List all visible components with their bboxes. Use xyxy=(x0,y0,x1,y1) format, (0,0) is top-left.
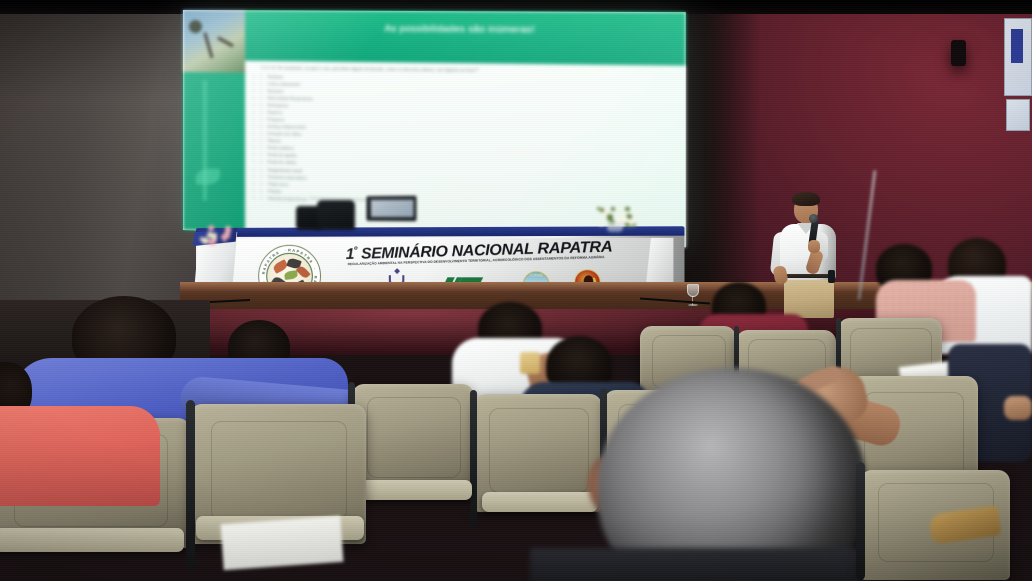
presenter-belt xyxy=(784,274,834,278)
flower-petal xyxy=(605,208,610,213)
slide-option-label: Perda de apetite xyxy=(267,152,296,158)
loudspeaker-icon xyxy=(951,40,966,66)
slide-left-band xyxy=(183,72,245,232)
slide-option-list: [ ] Nenhum[ ] Cólica abdominal[ ] Desmai… xyxy=(253,73,677,214)
slide-option-label: Fraqueza xyxy=(267,117,284,122)
slide-option-checkbox: [ ] xyxy=(253,88,267,93)
audience-salmon-body xyxy=(0,406,160,506)
armrest-a xyxy=(356,480,472,500)
notebook-left xyxy=(221,516,344,570)
conab-label: CONAB xyxy=(524,273,548,277)
slide-option-label: Sangramento nasal xyxy=(267,167,302,173)
slide-option-label: Vômito xyxy=(267,188,281,193)
rapatra-ring-char: · xyxy=(312,268,316,270)
flower-petal xyxy=(223,238,227,242)
flower-petal xyxy=(209,239,216,246)
slide-option-checkbox: [ ] xyxy=(253,152,267,157)
slide-option-checkbox: [ ] xyxy=(253,159,267,164)
flower-petal xyxy=(625,207,630,212)
slide-option-checkbox: [ ] xyxy=(253,74,267,79)
foreground-man-shoulders xyxy=(530,548,910,581)
slide-option-checkbox: [ ] xyxy=(253,138,267,143)
slide-option-checkbox: [ ] xyxy=(253,188,267,193)
chair-frame-10 xyxy=(856,462,865,580)
slide-option-label: Enfraqueza xyxy=(267,102,288,107)
slide-option-checkbox: [ ] xyxy=(253,102,267,107)
rapatra-ring-char: R xyxy=(288,248,291,252)
slide-header-band xyxy=(245,10,686,65)
stage-chair xyxy=(317,200,355,230)
slide-option-label: Tremores musculares xyxy=(267,174,306,180)
audience-snack-item xyxy=(520,352,540,374)
rapatra-ring-char: R xyxy=(313,276,317,279)
water-glass xyxy=(686,284,700,308)
flower-petal xyxy=(607,214,613,220)
slide-option-label: Outro(s) (especificar) xyxy=(267,195,307,201)
flower-petal xyxy=(207,232,213,238)
flower-petal xyxy=(615,207,621,213)
slide-option-label: Inchaço (hipertrofia) xyxy=(267,124,305,130)
flower-petal xyxy=(635,211,639,215)
audience-right-hand xyxy=(1004,396,1032,420)
slide-option-checkbox: [ ] xyxy=(253,116,267,121)
slide-option-checkbox: [ ] xyxy=(253,166,267,171)
slide-option-label: Nenhum xyxy=(267,74,283,79)
banner-title-ordinal-sup: º xyxy=(354,245,357,255)
slide-option-checkbox: [ ] xyxy=(253,181,267,186)
wall-sign-panel-lower xyxy=(1006,99,1030,131)
slide-option-checkbox: [ ] xyxy=(253,109,267,114)
slide-option-label: Espirros xyxy=(267,110,282,115)
flower-petal xyxy=(599,222,603,226)
slide-option-checkbox: [ ] xyxy=(253,195,267,200)
laptop xyxy=(366,196,416,225)
presenter xyxy=(766,192,858,322)
slide-option-label: Irritação nos olhos xyxy=(267,131,301,137)
armrest-b xyxy=(482,492,598,512)
slide-option-checkbox: [ ] xyxy=(253,145,267,150)
slide-corner-photo xyxy=(183,10,245,73)
presenter-phone xyxy=(828,270,835,283)
wall-sign-panel xyxy=(1004,18,1032,96)
slide-option-label: Visão turva xyxy=(267,181,288,187)
slide-option-checkbox: [ ] xyxy=(253,131,267,136)
slide-option-label: Náusea xyxy=(267,138,280,143)
slide-option-label: Cólica abdominal xyxy=(267,81,300,87)
slide-option-label: Perda de cabelo xyxy=(267,160,296,166)
flower-arrangement-left xyxy=(196,225,232,247)
flower-petal xyxy=(204,237,208,241)
slide-option-checkbox: [ ] xyxy=(253,81,267,86)
conference-photo: As possibilidades são inúmeras! 9.11.14.… xyxy=(0,0,1032,581)
chair-frame-8 xyxy=(186,400,195,570)
slide-option-checkbox: [ ] xyxy=(253,173,267,178)
slide-option-checkbox: [ ] xyxy=(253,95,267,100)
slide-option-checkbox: [ ] xyxy=(253,124,267,129)
armrest-front-a xyxy=(0,528,184,552)
slide-option-label: Perda auditiva xyxy=(267,145,293,151)
slide-option-label: Desmaio xyxy=(267,88,283,93)
presenter-hand-with-mic xyxy=(808,240,820,253)
presenter-hair xyxy=(792,192,820,206)
chair-frame-4 xyxy=(470,390,477,526)
slide-option-label: Dificuldade Respiratória xyxy=(267,95,312,101)
flower-vase xyxy=(607,222,623,232)
presenter-trousers xyxy=(784,276,834,318)
